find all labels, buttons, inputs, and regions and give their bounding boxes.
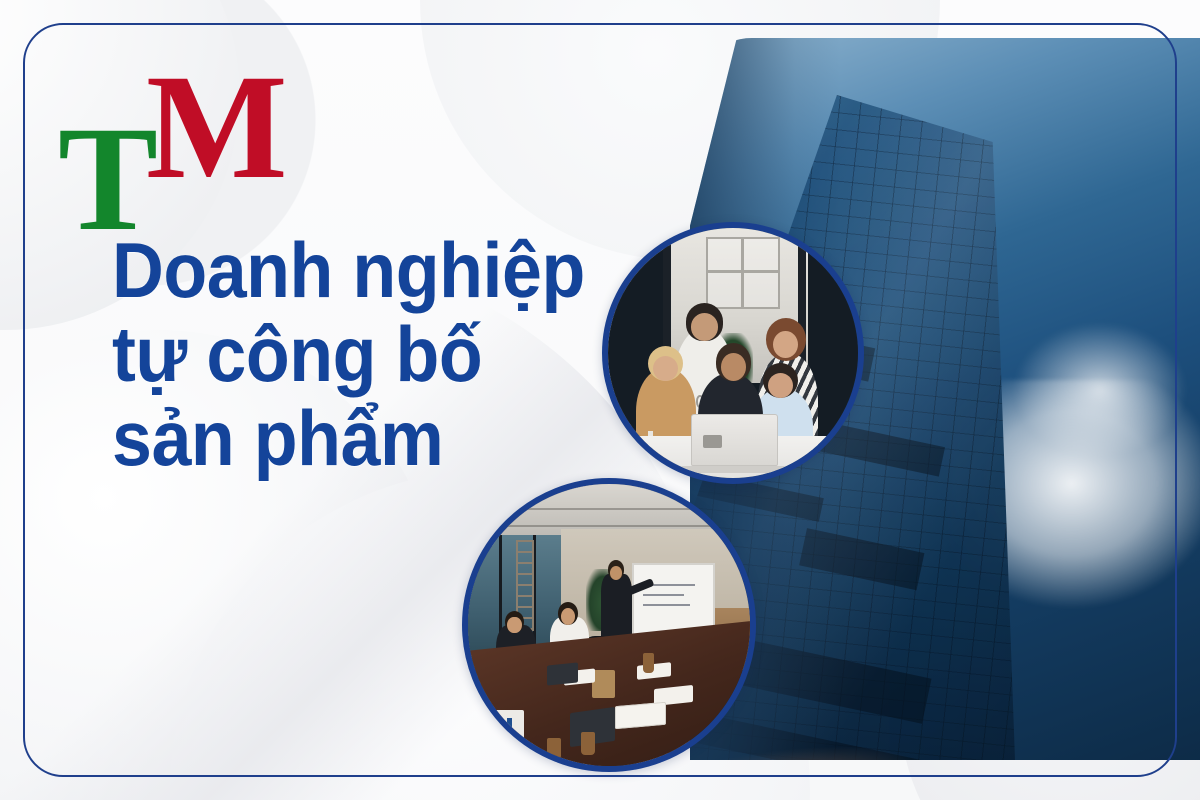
team-laptop-photo xyxy=(602,222,864,484)
attendee-face xyxy=(507,617,521,634)
tissue-box xyxy=(592,670,615,698)
tm-logo: M M T T xyxy=(58,52,248,212)
logo-m: M xyxy=(146,52,288,202)
window-pane xyxy=(706,237,744,272)
person-face xyxy=(653,356,678,381)
chart-bar xyxy=(507,718,512,742)
coffee-cup xyxy=(808,472,838,477)
ceiling-line xyxy=(468,525,750,527)
coffee-cup xyxy=(643,653,654,673)
meeting-room-photo xyxy=(462,478,756,772)
chart-bar xyxy=(493,714,498,742)
person-face xyxy=(773,331,798,359)
conference-room xyxy=(468,484,750,766)
laptop xyxy=(547,663,578,686)
headline-line-2: tự công bố xyxy=(112,312,544,396)
office-interior xyxy=(608,228,858,478)
coffee-cup xyxy=(581,732,595,755)
person-face xyxy=(721,353,746,381)
open-book xyxy=(615,702,666,729)
laptop-sticker xyxy=(703,435,722,448)
chart-bar xyxy=(486,721,491,742)
chart-bar xyxy=(500,724,505,742)
page-title: Doanh nghiệp tự công bố sản phẩm xyxy=(112,228,544,481)
printed-chart xyxy=(474,710,525,749)
headline-line-1: Doanh nghiệp xyxy=(112,228,544,312)
chart-bar xyxy=(479,729,484,742)
attendee-face xyxy=(561,608,575,625)
board-line xyxy=(643,604,690,606)
person-face xyxy=(768,373,793,398)
ceiling-line xyxy=(468,508,750,510)
board-line xyxy=(643,594,684,596)
headline-line-3: sản phẩm xyxy=(112,396,544,480)
laptop-base xyxy=(681,466,786,474)
banner-root: M M T T Doanh nghiệp tự công bố sản phẩm xyxy=(0,0,1200,800)
window-pane xyxy=(742,271,780,309)
window-pane xyxy=(742,237,780,272)
presenter-face xyxy=(610,566,623,580)
coffee-cup xyxy=(547,738,561,761)
laptop xyxy=(691,414,778,466)
person-face xyxy=(691,313,719,341)
